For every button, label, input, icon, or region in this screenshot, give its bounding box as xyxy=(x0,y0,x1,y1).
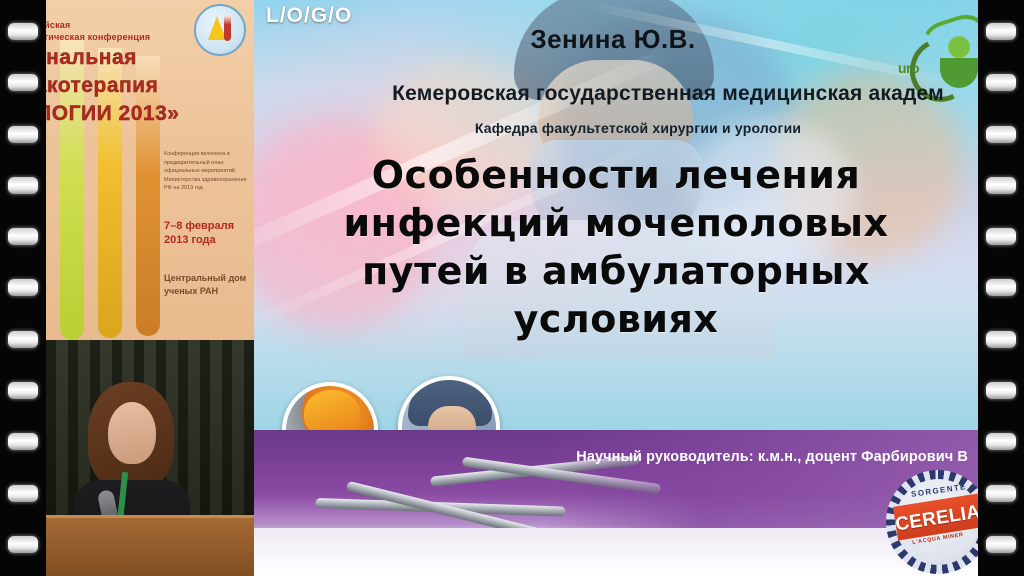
conference-poster: ссийская рактическая конференция циональ… xyxy=(46,0,254,340)
film-sprocket-icon xyxy=(986,126,1016,143)
presenter-face xyxy=(108,402,156,464)
film-sprocket-icon xyxy=(8,433,38,450)
film-sprocket-icon xyxy=(986,485,1016,502)
filmstrip-right xyxy=(978,0,1024,576)
film-sprocket-icon xyxy=(8,74,38,91)
author-name: Зенина Ю.В. xyxy=(254,24,978,55)
presenter-photo xyxy=(46,340,254,576)
slide-bottom-fade xyxy=(254,528,978,576)
film-sprocket-icon xyxy=(8,536,38,553)
film-sprocket-icon xyxy=(8,279,38,296)
film-sprocket-icon xyxy=(8,485,38,502)
department-name: Кафедра факультетской хирургии и урологи… xyxy=(276,120,978,136)
slide-title: Особенности лечения инфекций мочеполовых… xyxy=(270,152,962,344)
film-sprocket-icon xyxy=(8,228,38,245)
poster-date: 7–8 февраля 2013 года xyxy=(164,220,250,248)
filmstrip-left xyxy=(0,0,46,576)
poster-headline-2: рмакотерапия xyxy=(46,74,254,98)
title-line-4: условиях xyxy=(270,296,962,344)
presentation-slide: L/O/G/O uro Зенина Ю.В. Кемеровская госу… xyxy=(254,0,978,576)
footer-banner xyxy=(254,430,978,540)
poster-headline-3: РОЛОГИИ 2013» xyxy=(46,102,254,126)
film-sprocket-icon xyxy=(986,279,1016,296)
poster-note: Конференция включена в предварительный п… xyxy=(164,150,250,193)
video-frame: ссийская рактическая конференция циональ… xyxy=(0,0,1024,576)
academy-name: Кемеровская государственная медицинская … xyxy=(306,82,978,106)
film-sprocket-icon xyxy=(986,177,1016,194)
poster-top-line-1: ссийская xyxy=(46,20,254,30)
film-sprocket-icon xyxy=(986,331,1016,348)
banner-fade xyxy=(254,430,978,540)
title-line-3: путей в амбулаторных xyxy=(270,248,962,296)
film-sprocket-icon xyxy=(986,433,1016,450)
title-line-1: Особенности лечения xyxy=(270,152,962,200)
film-sprocket-icon xyxy=(986,23,1016,40)
film-sprocket-icon xyxy=(986,228,1016,245)
supervisor-text: Научный руководитель: к.м.н., доцент Фар… xyxy=(576,450,968,465)
title-line-2: инфекций мочеполовых xyxy=(270,200,962,248)
uro-logo-label: uro xyxy=(898,60,919,76)
film-sprocket-icon xyxy=(8,126,38,143)
film-sprocket-icon xyxy=(986,536,1016,553)
poster-headline-1: циональная xyxy=(46,46,254,70)
film-sprocket-icon xyxy=(8,177,38,194)
test-tube-icon xyxy=(136,56,160,336)
poster-venue: Центральный дом ученых РАН xyxy=(164,272,250,298)
film-sprocket-icon xyxy=(986,74,1016,91)
film-sprocket-icon xyxy=(986,382,1016,399)
film-sprocket-icon xyxy=(8,331,38,348)
podium xyxy=(46,515,254,576)
film-sprocket-icon xyxy=(8,23,38,40)
poster-top-line-2: рактическая конференция xyxy=(46,32,254,42)
cerelia-badge: SORGENTE CERELIA L'ACQUA MINER xyxy=(886,470,978,574)
slide-stage: ссийская рактическая конференция циональ… xyxy=(46,0,978,576)
film-sprocket-icon xyxy=(8,382,38,399)
